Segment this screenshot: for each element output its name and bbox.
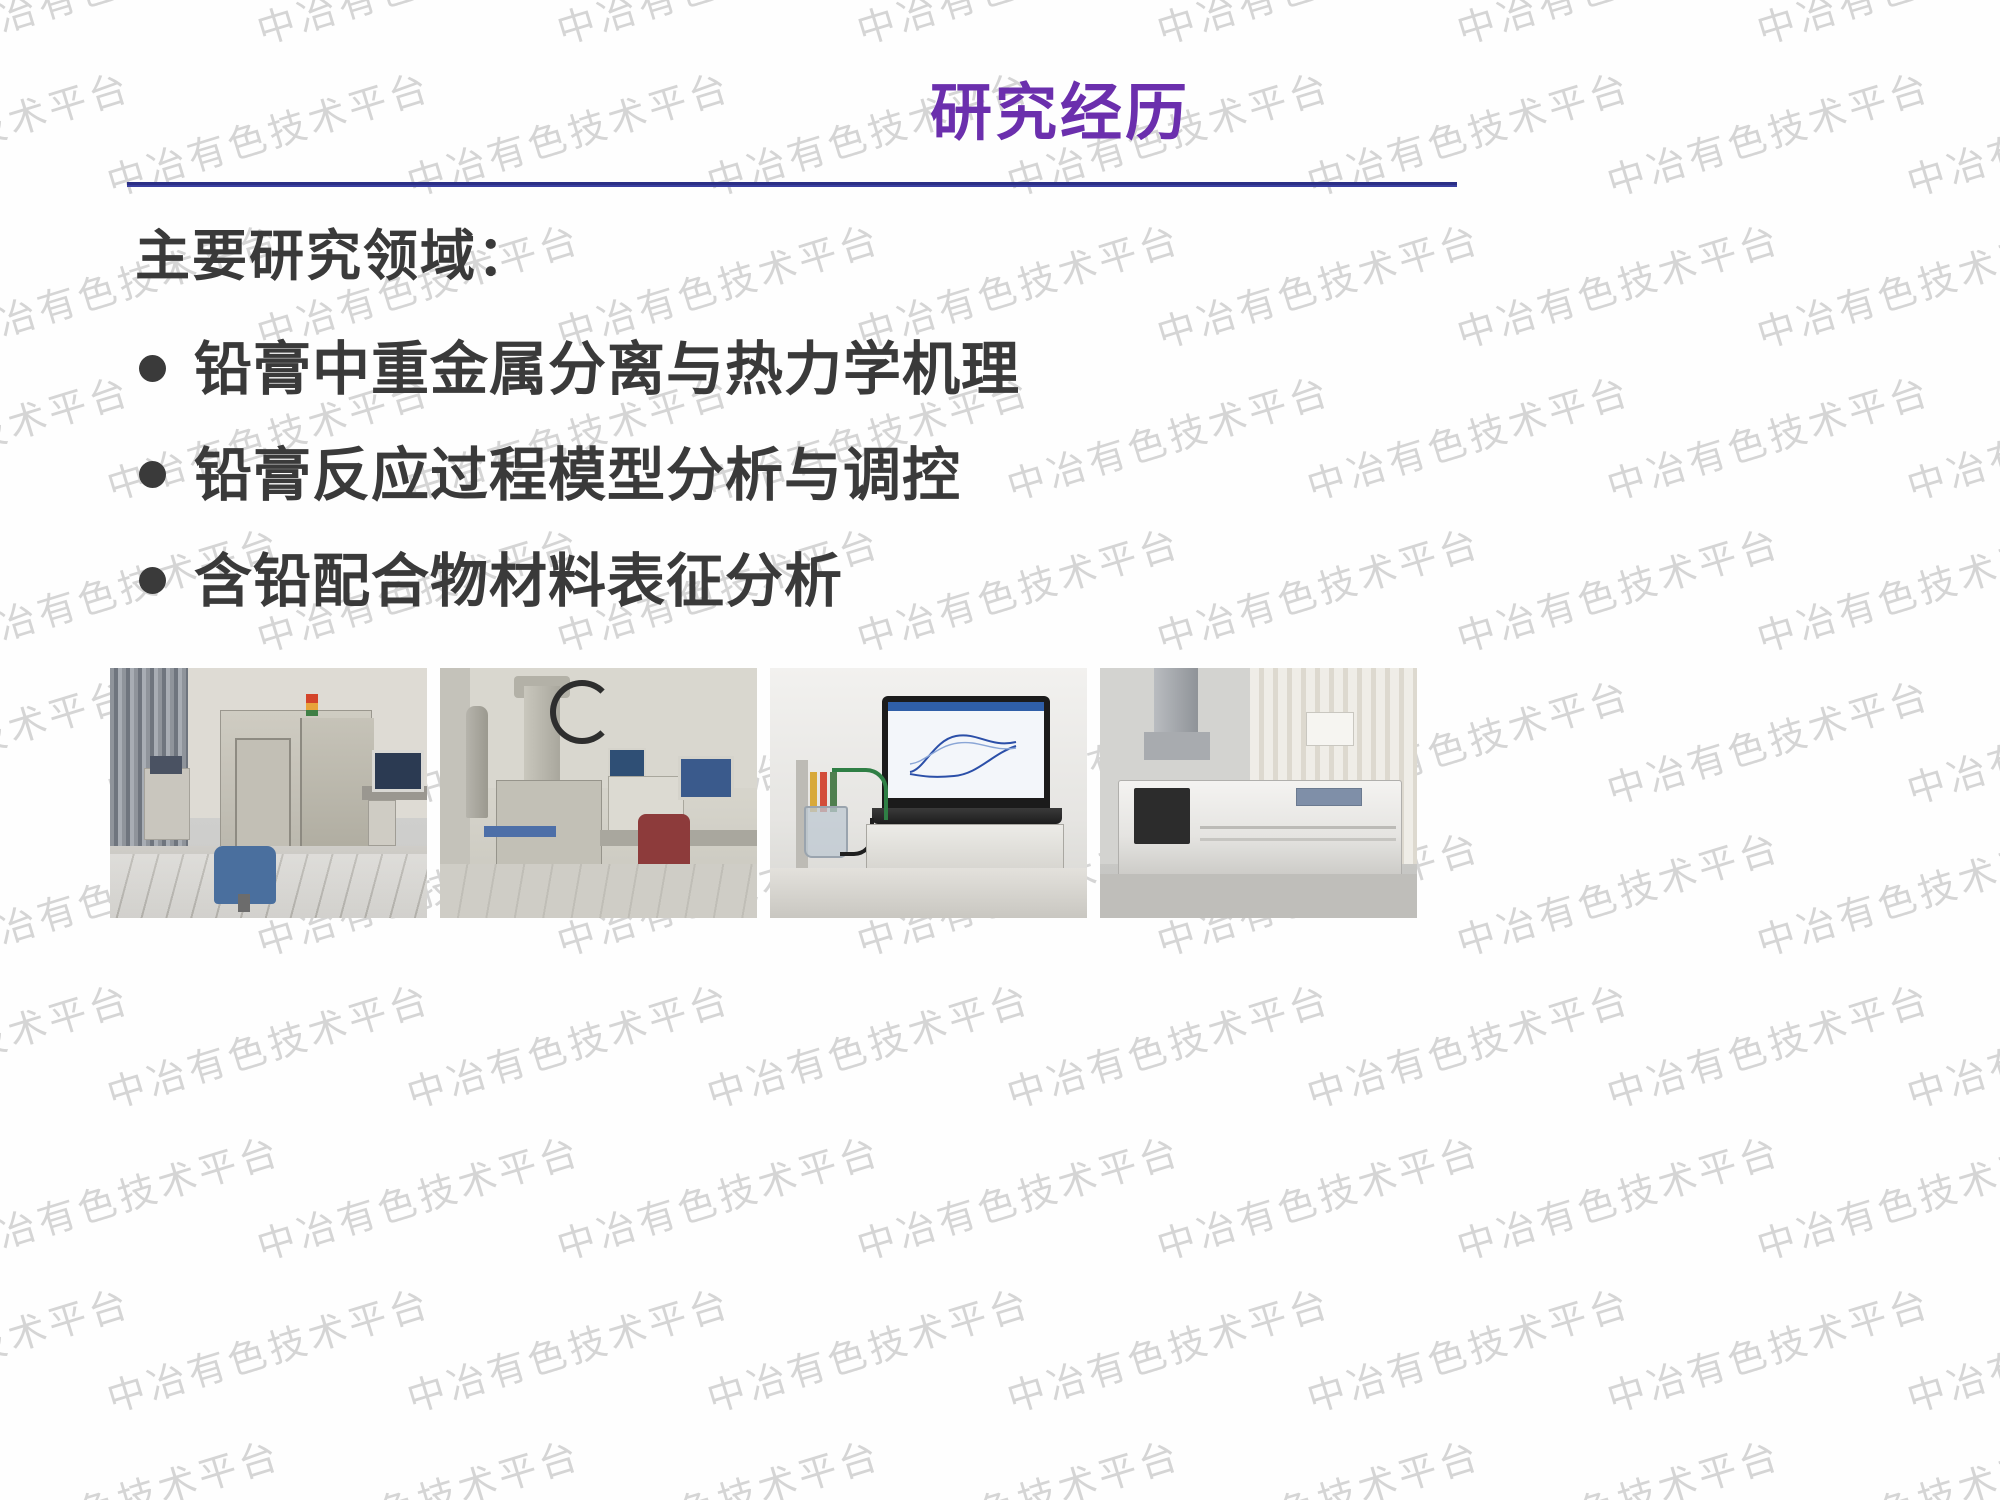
watermark-text: 中冶有色技术平台 <box>0 1424 287 1500</box>
laptop-display <box>888 702 1044 798</box>
watermark-text: 中冶有色技术平台 <box>1599 664 1936 815</box>
watermark-text: 中冶有色技术平台 <box>249 1120 586 1271</box>
list-item-label: 含铅配合物材料表征分析 <box>194 552 843 610</box>
photo-gallery: CS 电化学工作站 <box>110 668 1420 918</box>
watermark-text: 中冶有色技术平台 <box>99 968 436 1119</box>
watermark-text: 中冶有色技术平台 <box>1599 968 1936 1119</box>
bullet-circle-icon <box>139 567 166 594</box>
list-item: 铅膏中重金属分离与热力学机理 <box>135 332 1535 406</box>
page-title-text: 研究经历 <box>810 82 1190 144</box>
wall-notice <box>1306 712 1354 746</box>
watermark-text: 中冶有色技术平台 <box>1749 1424 2000 1500</box>
laptop-screen <box>882 696 1050 808</box>
watermark-text: 中冶有色技术平台 <box>999 968 1336 1119</box>
analyzer-seam-upper <box>1200 826 1396 829</box>
list-item: 铅膏反应过程模型分析与调控 <box>135 438 1535 512</box>
photo-electrochemical-workstation: CS 电化学工作站 <box>770 668 1087 918</box>
watermark-text: 中冶有色技术平台 <box>249 1424 586 1500</box>
watermark-text: 中冶有色技术平台 <box>0 0 287 55</box>
exhaust-hood <box>1144 732 1210 760</box>
bench-surface <box>770 868 1087 918</box>
watermark-text: 中冶有色技术平台 <box>549 0 886 55</box>
watermark-text: 中冶有色技术平台 <box>1599 1272 1936 1423</box>
laptop-base <box>872 808 1062 824</box>
gas-cylinder <box>466 706 488 818</box>
section-heading: 主要研究领域： <box>135 228 1535 286</box>
watermark-text: 中冶有色技术平台 <box>1749 1120 2000 1271</box>
floor <box>1100 874 1417 918</box>
computer-monitor <box>372 750 424 792</box>
watermark-text: 中冶有色技术平台 <box>1299 968 1636 1119</box>
secondary-monitor <box>608 748 646 778</box>
watermark-text: 中冶有色技术平台 <box>1599 360 1936 511</box>
watermark-text: 中冶有色技术平台 <box>1449 816 1786 967</box>
watermark-text: 中冶有色技术平台 <box>849 1424 1186 1500</box>
watermark-text: 中冶有色技术平台 <box>1899 968 2000 1119</box>
watermark-text: 中冶有色技术平台 <box>99 1272 436 1423</box>
cabinet-door <box>235 738 291 850</box>
watermark-text: 中冶有色技术平台 <box>1149 1120 1486 1271</box>
trolley-monitor <box>150 756 182 774</box>
bullet-circle-icon <box>139 355 166 382</box>
watermark-text: 中冶有色技术平台 <box>1449 0 1786 55</box>
watermark-text: 中冶有色技术平台 <box>1899 360 2000 511</box>
watermark-text: 中冶有色技术平台 <box>1299 1272 1636 1423</box>
watermark-text: 中冶有色技术平台 <box>1749 208 2000 359</box>
watermark-text: 中冶有色技术平台 <box>1899 664 2000 815</box>
exhaust-duct <box>1154 668 1198 738</box>
analyzer-seam-lower <box>1200 838 1396 841</box>
watermark-text: 中冶有色技术平台 <box>1149 0 1486 55</box>
photo-sem-lab <box>440 668 757 918</box>
watermark-text: 中冶有色技术平台 <box>0 1272 137 1423</box>
trolley <box>144 768 190 840</box>
watermark-text: 中冶有色技术平台 <box>0 1120 287 1271</box>
chair-base <box>238 894 250 912</box>
watermark-text: 中冶有色技术平台 <box>999 1272 1336 1423</box>
instrument-nameplate <box>484 826 556 837</box>
photo-icp-analyzer <box>1100 668 1417 918</box>
sem-chamber <box>496 780 602 866</box>
computer-tower <box>368 800 396 846</box>
watermark-text: 中冶有色技术平台 <box>0 360 137 511</box>
watermark-text: 中冶有色技术平台 <box>849 1120 1186 1271</box>
bullet-circle-icon <box>139 461 166 488</box>
content-body: 主要研究领域： 铅膏中重金属分离与热力学机理 铅膏反应过程模型分析与调控 含铅配… <box>135 228 1535 650</box>
coiled-cable <box>550 680 614 744</box>
watermark-text: 中冶有色技术平台 <box>1449 1120 1786 1271</box>
divider-line-bottom <box>127 185 1457 187</box>
cyclic-voltammetry-curve-icon <box>904 724 1024 788</box>
watermark-text: 中冶有色技术平台 <box>1749 512 2000 663</box>
list-item-label: 铅膏反应过程模型分析与调控 <box>194 446 961 504</box>
watermark-text: 中冶有色技术平台 <box>399 968 736 1119</box>
analyzer-sample-door <box>1134 788 1190 844</box>
list-item-label: 铅膏中重金属分离与热力学机理 <box>194 340 1020 398</box>
watermark-text: 中冶有色技术平台 <box>549 1120 886 1271</box>
watermark-text: 中冶有色技术平台 <box>1449 1424 1786 1500</box>
watermark-text: 中冶有色技术平台 <box>549 1424 886 1500</box>
analyzer-display-panel <box>1296 788 1362 806</box>
floor <box>440 864 757 918</box>
list-item: 含铅配合物材料表征分析 <box>135 544 1535 618</box>
watermark-text: 中冶有色技术平台 <box>1749 816 2000 967</box>
watermark-text: 中冶有色技术平台 <box>249 0 586 55</box>
slide-canvas: 研究经历 主要研究领域： 铅膏中重金属分离与热力学机理 铅膏反应过程模型分析与调… <box>0 0 2000 1500</box>
photo-xrd-lab <box>110 668 427 918</box>
watermark-text: 中冶有色技术平台 <box>1899 1272 2000 1423</box>
page-title: 研究经历 <box>0 82 2000 144</box>
title-divider <box>127 182 1457 188</box>
watermark-text: 中冶有色技术平台 <box>699 968 1036 1119</box>
watermark-text: 中冶有色技术平台 <box>1749 0 2000 55</box>
watermark-text: 中冶有色技术平台 <box>1149 1424 1486 1500</box>
computer-monitor <box>678 756 734 800</box>
status-tower-lamp <box>306 694 318 716</box>
watermark-text: 中冶有色技术平台 <box>699 1272 1036 1423</box>
software-titlebar <box>888 702 1044 711</box>
watermark-text: 中冶有色技术平台 <box>0 968 137 1119</box>
watermark-text: 中冶有色技术平台 <box>399 1272 736 1423</box>
watermark-text: 中冶有色技术平台 <box>849 0 1186 55</box>
